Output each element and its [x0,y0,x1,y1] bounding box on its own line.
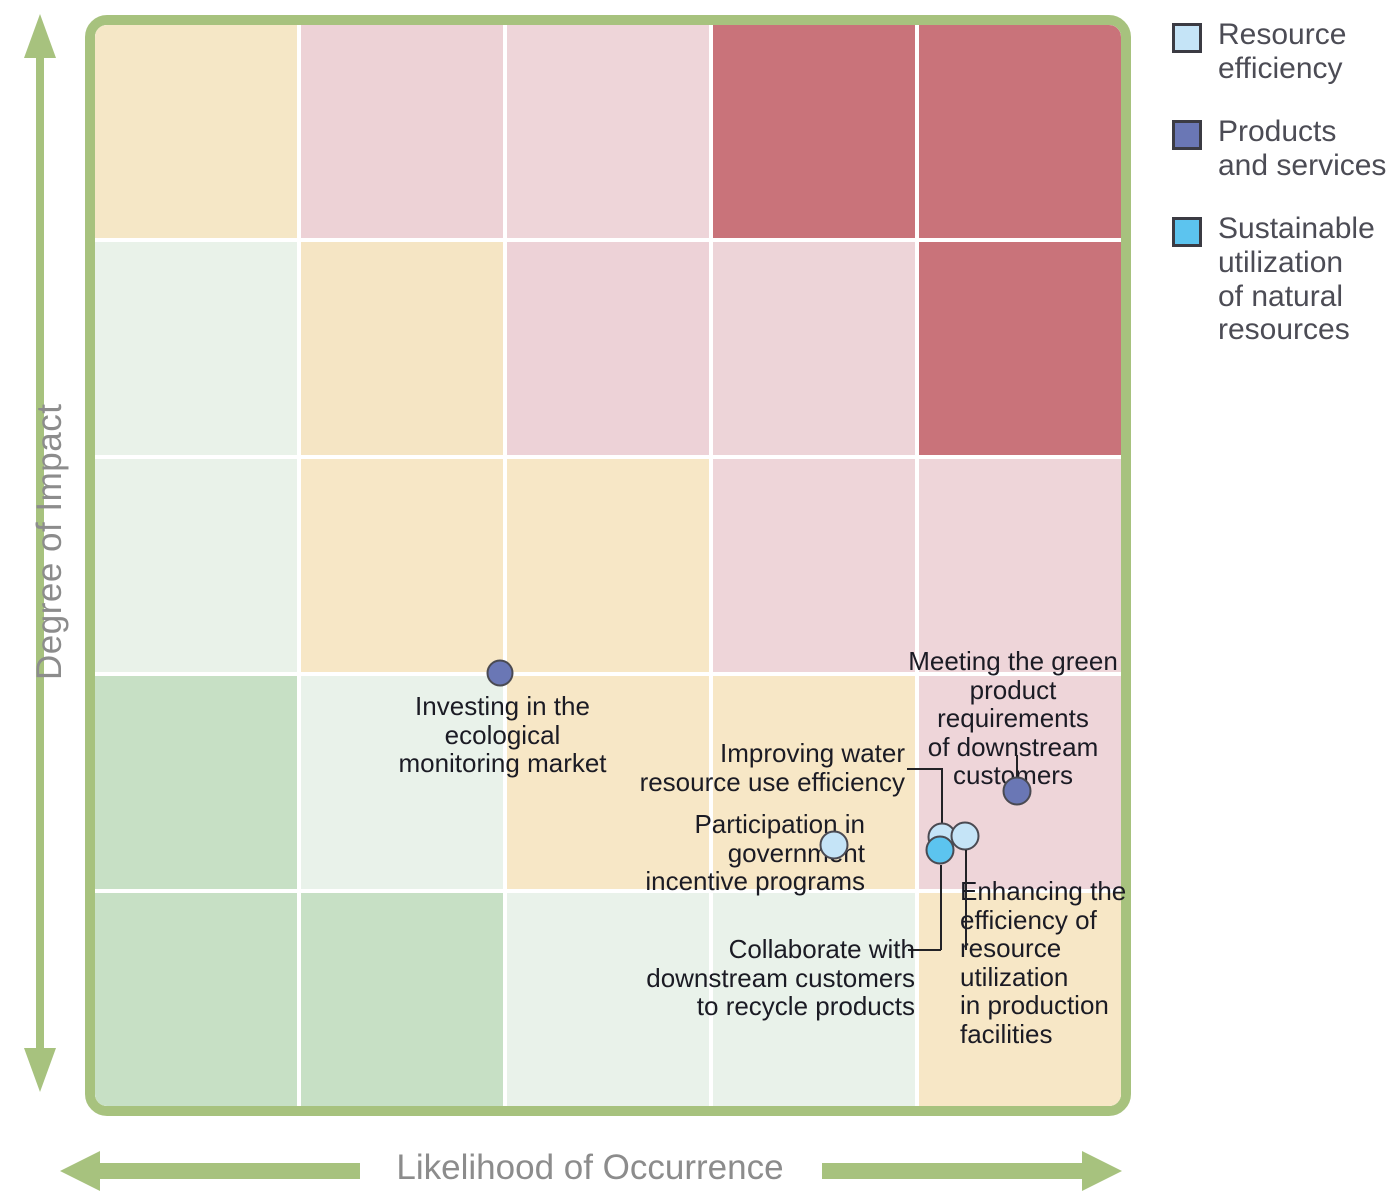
matrix-cell-r2-c3 [507,242,709,455]
matrix-cell-r5-c4 [713,893,915,1106]
legend-item-resource-efficiency[interactable]: Resource efficiency [1172,18,1387,85]
matrix-cell-r1-c3 [507,25,709,238]
matrix-grid [95,25,1121,1106]
x-axis-arrow [60,1146,1122,1196]
matrix-cell-r4-c4 [713,676,915,889]
matrix-cell-r3-c4 [713,459,915,672]
legend-swatch-resource-efficiency [1172,23,1202,53]
matrix-cell-r4-c5 [919,676,1121,889]
matrix-cell-r3-c1 [95,459,297,672]
matrix-cell-r1-c5 [919,25,1121,238]
matrix-cell-r3-c3 [507,459,709,672]
matrix-cell-r4-c2 [301,676,503,889]
matrix-cell-r2-c1 [95,242,297,455]
matrix-cell-r5-c5 [919,893,1121,1106]
y-axis-label: Degree of Impact [30,420,70,680]
matrix-cell-r4-c3 [507,676,709,889]
legend-swatch-products-and-services [1172,120,1202,150]
matrix-cell-r1-c4 [713,25,915,238]
matrix-cell-r4-c1 [95,676,297,889]
legend-item-sustainable-utilization-of-natural-resources[interactable]: Sustainable utilization of natural resou… [1172,212,1387,346]
matrix-cell-r3-c2 [301,459,503,672]
legend: Resource efficiencyProducts and services… [1172,18,1387,377]
matrix-cell-r1-c1 [95,25,297,238]
legend-swatch-sustainable-utilization-of-natural-resources [1172,217,1202,247]
matrix-cell-r5-c1 [95,893,297,1106]
matrix-cell-r2-c2 [301,242,503,455]
legend-label-sustainable-utilization-of-natural-resources: Sustainable utilization of natural resou… [1218,212,1375,346]
legend-label-products-and-services: Products and services [1218,115,1386,182]
legend-item-products-and-services[interactable]: Products and services [1172,115,1387,182]
matrix-cell-r5-c2 [301,893,503,1106]
matrix-cell-r5-c3 [507,893,709,1106]
matrix-frame [85,15,1131,1116]
matrix-cell-r3-c5 [919,459,1121,672]
matrix-cell-r2-c5 [919,242,1121,455]
legend-label-resource-efficiency: Resource efficiency [1218,18,1346,85]
matrix-cell-r2-c4 [713,242,915,455]
matrix-cell-r1-c2 [301,25,503,238]
y-axis-label-wrap: Degree of Impact [12,0,68,1100]
